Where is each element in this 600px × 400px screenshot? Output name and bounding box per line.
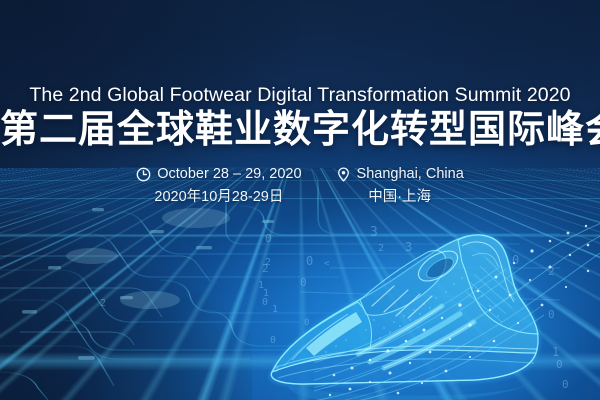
event-location-english-row: Shanghai, China bbox=[336, 166, 464, 182]
event-date: October 28 – 29, 2020 2020年10月28-29日 bbox=[136, 166, 301, 206]
event-location-english: Shanghai, China bbox=[357, 166, 464, 182]
event-date-chinese: 2020年10月28-29日 bbox=[154, 185, 283, 206]
title-english: The 2nd Global Footwear Digital Transfor… bbox=[0, 84, 600, 106]
event-location-chinese: 中国·上海 bbox=[368, 185, 431, 206]
clock-icon bbox=[136, 167, 151, 182]
event-date-english: October 28 – 29, 2020 bbox=[157, 166, 301, 182]
event-date-english-row: October 28 – 29, 2020 bbox=[136, 166, 301, 182]
map-pin-icon bbox=[336, 167, 351, 182]
banner-content: The 2nd Global Footwear Digital Transfor… bbox=[0, 0, 600, 206]
title-chinese: 第二届全球鞋业数字化转型国际峰会 bbox=[0, 108, 600, 152]
particle-trails bbox=[314, 215, 600, 400]
event-location: Shanghai, China 中国·上海 bbox=[336, 166, 464, 206]
event-banner: 0 0 0 3 3 2 2 1 < 2 0 2 0 1 0 0 0 0 1 2 … bbox=[0, 0, 600, 400]
event-meta: October 28 – 29, 2020 2020年10月28-29日 Sha… bbox=[0, 166, 600, 206]
